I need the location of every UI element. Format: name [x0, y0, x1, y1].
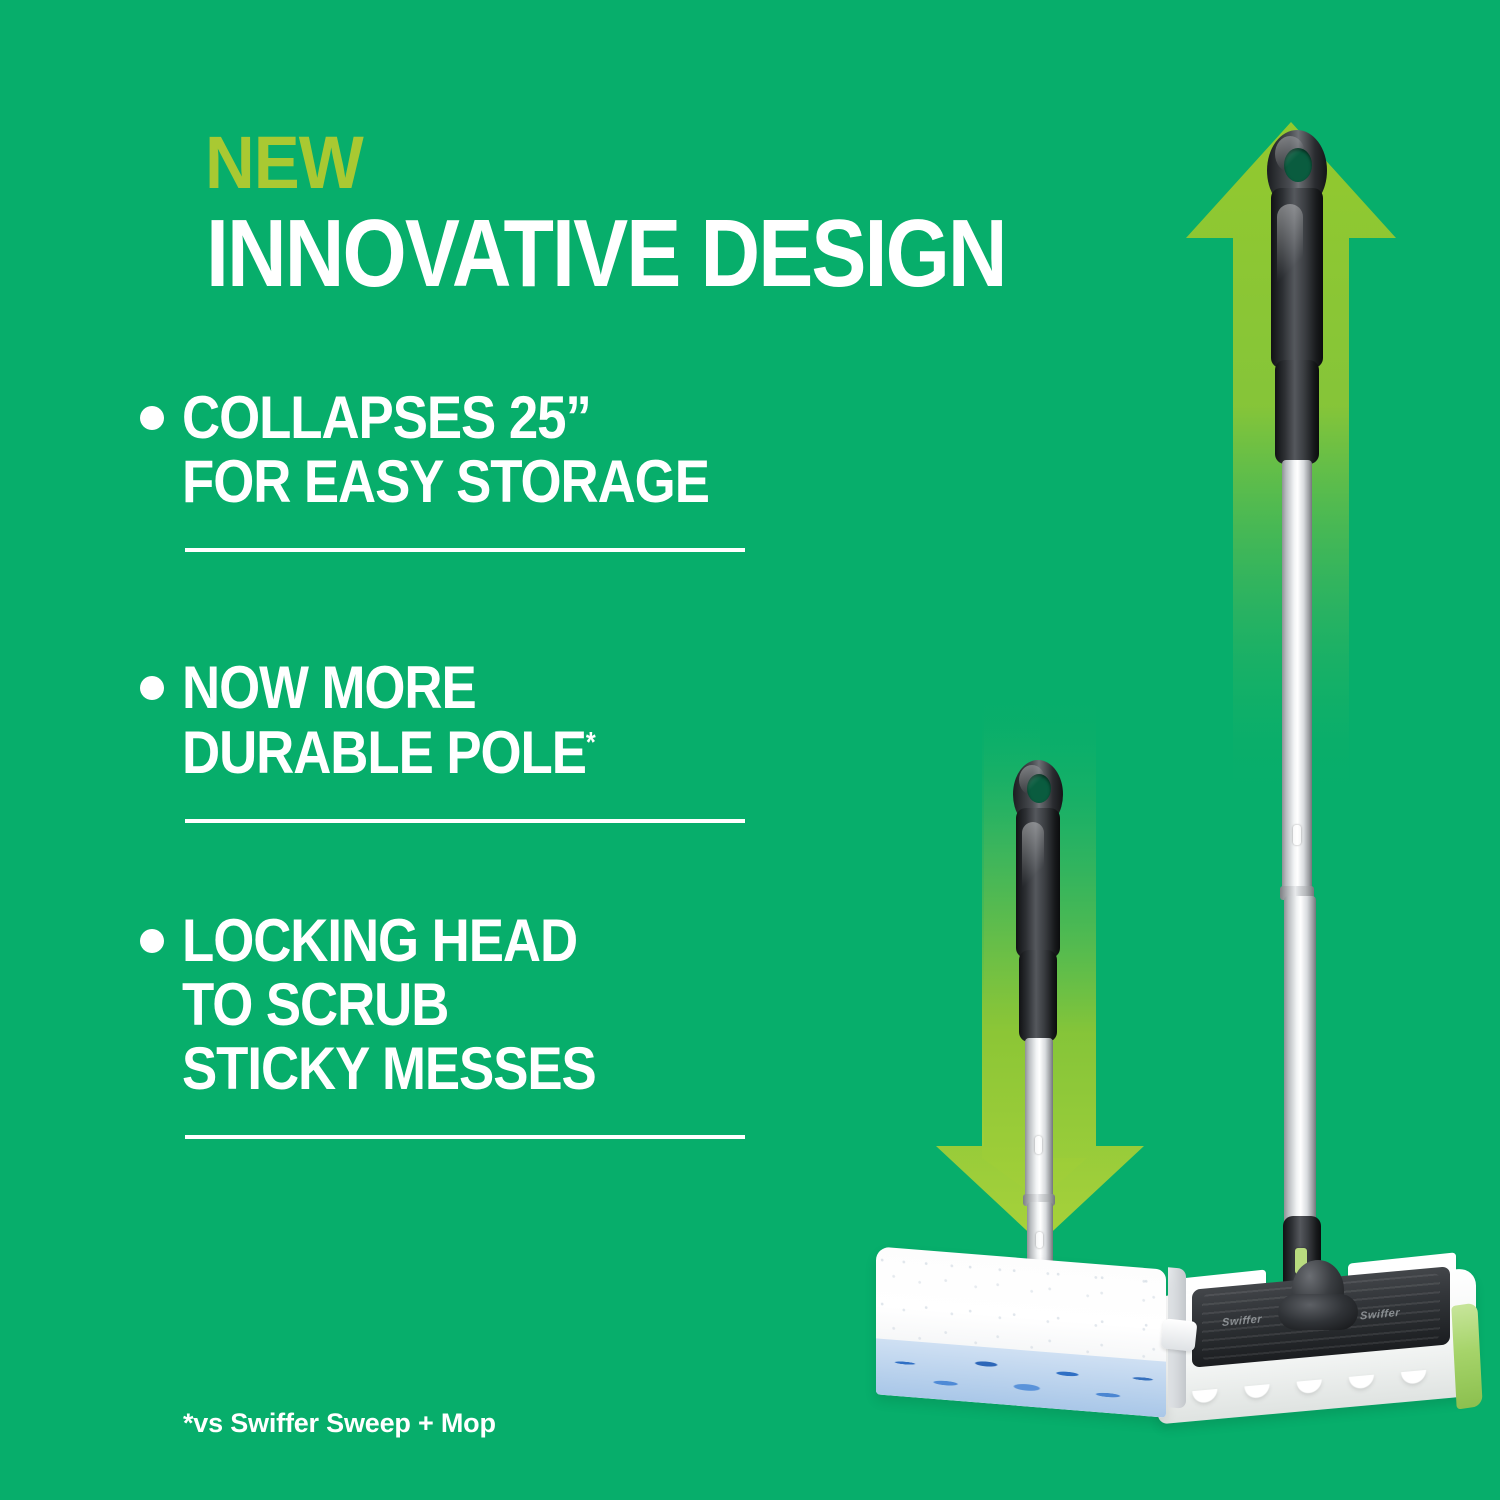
grip-collar: [1275, 360, 1319, 464]
footnote-text: *vs Swiffer Sweep + Mop: [183, 1408, 496, 1439]
bullet-dot-icon: [140, 406, 164, 430]
eyebrow-label: NEW: [205, 128, 363, 198]
pad-face: [876, 1246, 1166, 1417]
feature-bullet-3: LOCKING HEAD TO SCRUB STICKY MESSES: [140, 909, 780, 1140]
bullet-divider: [185, 1135, 745, 1139]
pole-lower-segment: [1284, 896, 1316, 1226]
page-title: INNOVATIVE DESIGN: [206, 208, 1006, 299]
pole-upper-segment: [1025, 1038, 1053, 1198]
swivel-joint-lower: [1278, 1294, 1358, 1330]
feature-bullet-1-text: COLLAPSES 25” FOR EASY STORAGE: [182, 386, 709, 514]
feature-bullet-list: COLLAPSES 25” FOR EASY STORAGE NOW MORE …: [140, 386, 780, 1139]
feature-bullet-2-text: NOW MORE DURABLE POLE*: [182, 656, 595, 784]
bullet-line-main: DURABLE POLE: [182, 719, 586, 786]
footnote-marker: *: [586, 727, 595, 759]
bullet-line: LOCKING HEAD: [182, 909, 596, 973]
pole-lock-notch: [1035, 1136, 1042, 1154]
extended-swiffer-sweeper: [1205, 130, 1435, 1380]
bullet-dot-icon: [140, 929, 164, 953]
bullet-line: STICKY MESSES: [182, 1037, 596, 1101]
bullet-line: TO SCRUB: [182, 973, 596, 1037]
grip-highlight: [1022, 822, 1044, 902]
bullet-line: DURABLE POLE*: [182, 721, 595, 785]
feature-bullet-1: COLLAPSES 25” FOR EASY STORAGE: [140, 386, 780, 656]
bullet-line: NOW MORE: [182, 656, 595, 720]
wet-mopping-pad: [876, 1258, 1176, 1418]
feature-bullet-2: NOW MORE DURABLE POLE*: [140, 656, 780, 908]
feature-bullet-3-text: LOCKING HEAD TO SCRUB STICKY MESSES: [182, 909, 596, 1102]
pole-lock-notch-lower: [1036, 1232, 1043, 1248]
bullet-line: FOR EASY STORAGE: [182, 450, 709, 514]
handle-highlight: [1275, 136, 1305, 172]
bullet-dot-icon: [140, 676, 164, 700]
grip-highlight: [1277, 204, 1303, 300]
grip-collar: [1019, 950, 1057, 1042]
pad-corner-clip: [1161, 1318, 1198, 1351]
collapsed-swiffer-mop: [985, 760, 1105, 1280]
pole-lock-notch: [1293, 825, 1301, 845]
sweeper-head: Swiffer Swiffer: [1152, 1252, 1482, 1422]
handle-highlight: [1019, 765, 1045, 795]
product-feature-image: NEW INNOVATIVE DESIGN COLLAPSES 25” FOR …: [0, 0, 1500, 1500]
bullet-line: COLLAPSES 25”: [182, 386, 709, 450]
